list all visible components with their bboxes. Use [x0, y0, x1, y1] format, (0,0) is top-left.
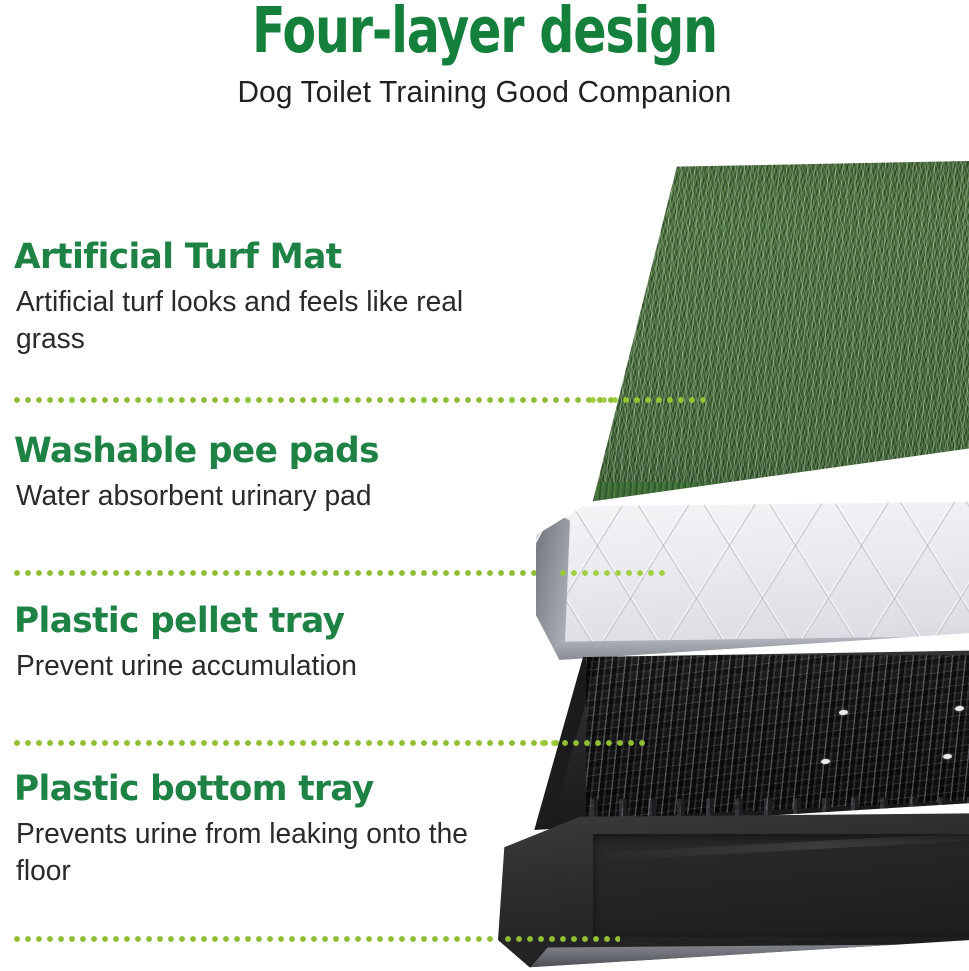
feature-title: Plastic pellet tray: [14, 600, 475, 642]
feature-description: Artificial turf looks and feels like rea…: [16, 284, 470, 358]
pellet-tray-front-teeth: [583, 796, 969, 830]
drain-hole-icon: [821, 759, 830, 765]
leader-line-pellet-tray: [14, 739, 654, 747]
pad-quilted-diamond-texture: [536, 500, 969, 660]
leader-line-turf-overlay: [590, 396, 705, 404]
feature-plastic-pellet-tray: Plastic pellet tray Prevent urine accumu…: [14, 600, 484, 685]
leader-line-pee-pad-overlay: [560, 569, 665, 577]
product-layer-plastic-pellet-tray: [516, 648, 969, 830]
turf-front-edge: [562, 482, 969, 504]
product-layer-plastic-bottom-tray: [498, 812, 969, 971]
leader-line-turf: [14, 396, 694, 404]
feature-plastic-bottom-tray: Plastic bottom tray Prevents urine from …: [14, 768, 484, 890]
pellet-tray-left-rim: [531, 653, 598, 828]
feature-description: Prevents urine from leaking onto the flo…: [16, 816, 470, 890]
pad-front-edge: [536, 634, 969, 660]
feature-title: Plastic bottom tray: [14, 768, 475, 810]
leader-line-bottom-tray-overlay: [505, 935, 620, 943]
page-title: Four-layer design: [107, 0, 863, 64]
bottom-tray-highlight: [599, 829, 969, 860]
header: Four-layer design Dog Toilet Training Go…: [0, 0, 969, 125]
drain-hole-icon: [839, 710, 848, 716]
feature-title: Washable pee pads: [14, 430, 475, 472]
feature-artificial-turf-mat: Artificial Turf Mat Artificial turf look…: [14, 236, 484, 358]
drain-hole-icon: [943, 753, 952, 759]
turf-fibre-texture: [562, 158, 969, 503]
bottom-tray-front-lip: [511, 943, 969, 969]
pad-edge-binding: [534, 512, 570, 654]
product-layer-artificial-turf-mat: [562, 158, 969, 503]
page-subtitle: Dog Toilet Training Good Companion: [19, 74, 949, 110]
feature-washable-pee-pads: Washable pee pads Water absorbent urinar…: [14, 430, 484, 515]
pellet-tray-pillar-grid: [586, 655, 969, 819]
feature-description: Prevent urine accumulation: [16, 648, 470, 685]
drain-hole-icon: [955, 706, 964, 712]
product-infographic: Four-layer design Dog Toilet Training Go…: [0, 0, 969, 971]
product-layer-washable-pee-pad: [536, 500, 969, 660]
leader-line-pellet-tray-overlay: [540, 739, 645, 747]
leader-line-bottom-tray: [14, 935, 634, 943]
feature-description: Water absorbent urinary pad: [16, 478, 470, 515]
bottom-tray-basin: [593, 834, 969, 936]
feature-title: Artificial Turf Mat: [14, 236, 475, 278]
leader-line-pee-pad: [14, 569, 674, 577]
